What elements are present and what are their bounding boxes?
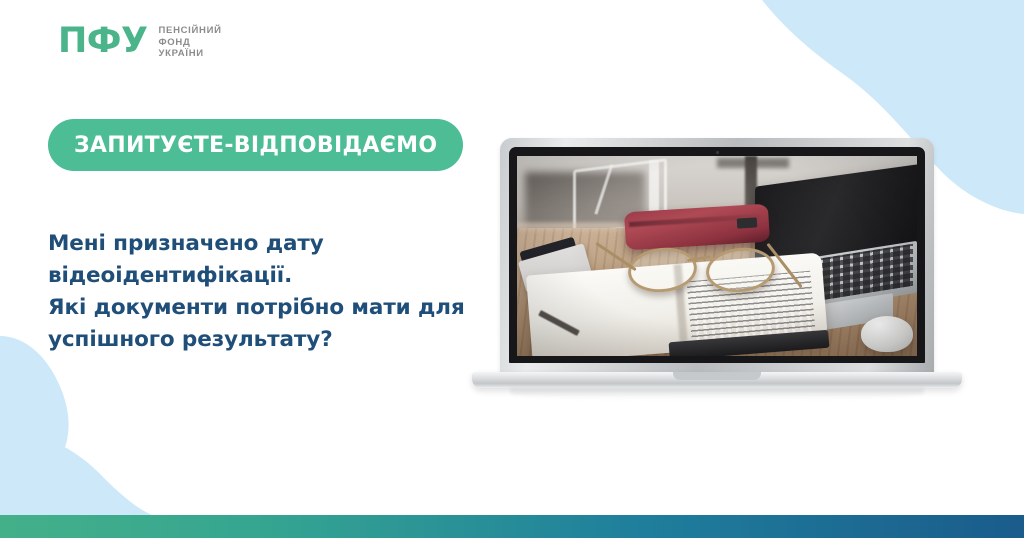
logo-word-line-2: ФОНД: [159, 38, 222, 48]
bottom-left-wave-shape: [0, 430, 152, 515]
left-wave-shape: [0, 336, 69, 512]
laptop-bezel: [509, 147, 925, 363]
laptop-base-notch: [673, 372, 761, 380]
laptop-lid: [500, 138, 934, 376]
logo-word-line-3: УКРАЇНИ: [159, 49, 222, 59]
laptop-reflection: [510, 388, 924, 400]
bottom-accent-bar: [0, 515, 1024, 538]
category-badge: ЗАПИТУЄТЕ-ВІДПОВІДАЄМО: [48, 119, 463, 171]
pfu-logo-wordmark: ПЕНСІЙНИЙ ФОНД УКРАЇНИ: [159, 24, 222, 59]
laptop-mockup: [472, 138, 962, 400]
webcam-icon: [716, 151, 719, 154]
laptop-screen: [517, 156, 917, 356]
banner-canvas: ПФУ ПЕНСІЙНИЙ ФОНД УКРАЇНИ ЗАПИТУЄТЕ-ВІД…: [0, 0, 1024, 538]
laptop-base: [472, 372, 962, 388]
pfu-logo[interactable]: ПФУ ПЕНСІЙНИЙ ФОНД УКРАЇНИ: [58, 24, 222, 59]
pfu-logo-mark: ПФУ: [58, 24, 148, 59]
logo-word-line-1: ПЕНСІЙНИЙ: [159, 26, 222, 36]
category-badge-label: ЗАПИТУЄТЕ-ВІДПОВІДАЄМО: [74, 133, 437, 158]
desk-photo: [517, 156, 917, 356]
photo-vignette: [517, 156, 917, 356]
